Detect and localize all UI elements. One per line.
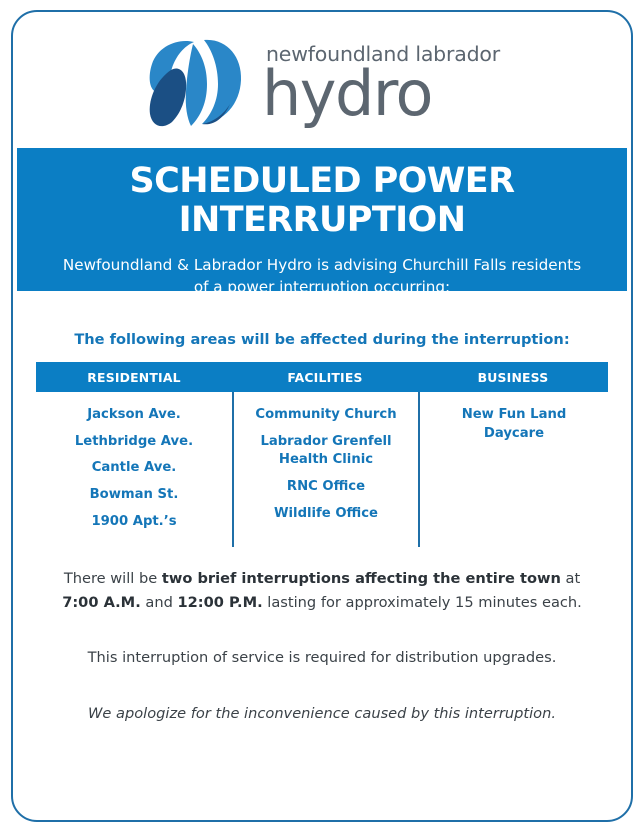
- table-column-header-residential: RESIDENTIAL: [36, 362, 232, 392]
- table-cell-facilities: Community Church Labrador Grenfell Healt…: [232, 392, 418, 547]
- list-item: Bowman St.: [36, 486, 232, 505]
- logo-inner: newfoundland labrador hydro: [144, 34, 500, 132]
- list-item: Community Church: [234, 406, 418, 425]
- list-item: 1900 Apt.’s: [36, 513, 232, 532]
- banner-subtitle-line2: of a power interruption occurring:: [194, 278, 450, 296]
- list-item: New Fun Land Daycare: [420, 406, 608, 443]
- banner-subtitle: Newfoundland & Labrador Hydro is advisin…: [33, 254, 611, 298]
- note-p1-part3: and: [141, 594, 178, 611]
- notes-block: There will be two brief interruptions af…: [60, 567, 584, 726]
- note-p1-part2: at: [561, 570, 580, 587]
- affected-areas-heading: The following areas will be affected dur…: [0, 331, 644, 348]
- affected-areas-table: RESIDENTIAL FACILITIES BUSINESS Jackson …: [36, 362, 608, 547]
- scheduled-interruption-banner: SCHEDULED POWER INTERRUPTION Newfoundlan…: [17, 148, 627, 291]
- banner-subtitle-line1: Newfoundland & Labrador Hydro is advisin…: [63, 256, 581, 274]
- banner-title: SCHEDULED POWER INTERRUPTION: [33, 162, 611, 240]
- note-interruptions-paragraph: There will be two brief interruptions af…: [60, 567, 584, 614]
- power-interruption-notice: newfoundland labrador hydro SCHEDULED PO…: [0, 0, 644, 832]
- note-reason-paragraph: This interruption of service is required…: [60, 646, 584, 670]
- table-column-header-business: BUSINESS: [418, 362, 608, 392]
- table-cell-business: New Fun Land Daycare: [418, 392, 608, 547]
- note-p1-bold1: two brief interruptions affecting the en…: [162, 570, 561, 587]
- note-p1-part1: There will be: [64, 570, 162, 587]
- note-p1-bold3: 12:00 P.M.: [177, 594, 262, 611]
- note-apology-paragraph: We apologize for the inconvenience cause…: [60, 702, 584, 726]
- table-body-row: Jackson Ave. Lethbridge Ave. Cantle Ave.…: [36, 392, 608, 547]
- note-p1-part4: lasting for approximately 15 minutes eac…: [263, 594, 582, 611]
- note-p1-bold2: 7:00 A.M.: [62, 594, 141, 611]
- table-cell-residential: Jackson Ave. Lethbridge Ave. Cantle Ave.…: [36, 392, 232, 547]
- brand-logo: newfoundland labrador hydro: [0, 24, 644, 142]
- list-item: RNC Office: [234, 478, 418, 497]
- list-item: Lethbridge Ave.: [36, 433, 232, 452]
- list-item: Jackson Ave.: [36, 406, 232, 425]
- table-header-row: RESIDENTIAL FACILITIES BUSINESS: [36, 362, 608, 392]
- list-item: Wildlife Office: [234, 505, 418, 524]
- logo-wordmark: newfoundland labrador hydro: [262, 44, 500, 123]
- banner-date-line: Sunday, August 28, 2022 from 7:00 A.M. t…: [33, 311, 611, 329]
- table-column-header-facilities: FACILITIES: [232, 362, 418, 392]
- logo-hydro-text: hydro: [262, 65, 500, 122]
- list-item: Labrador Grenfell Health Clinic: [234, 433, 418, 470]
- nl-hydro-swirl-logo-icon: [144, 34, 248, 132]
- list-item: Cantle Ave.: [36, 459, 232, 478]
